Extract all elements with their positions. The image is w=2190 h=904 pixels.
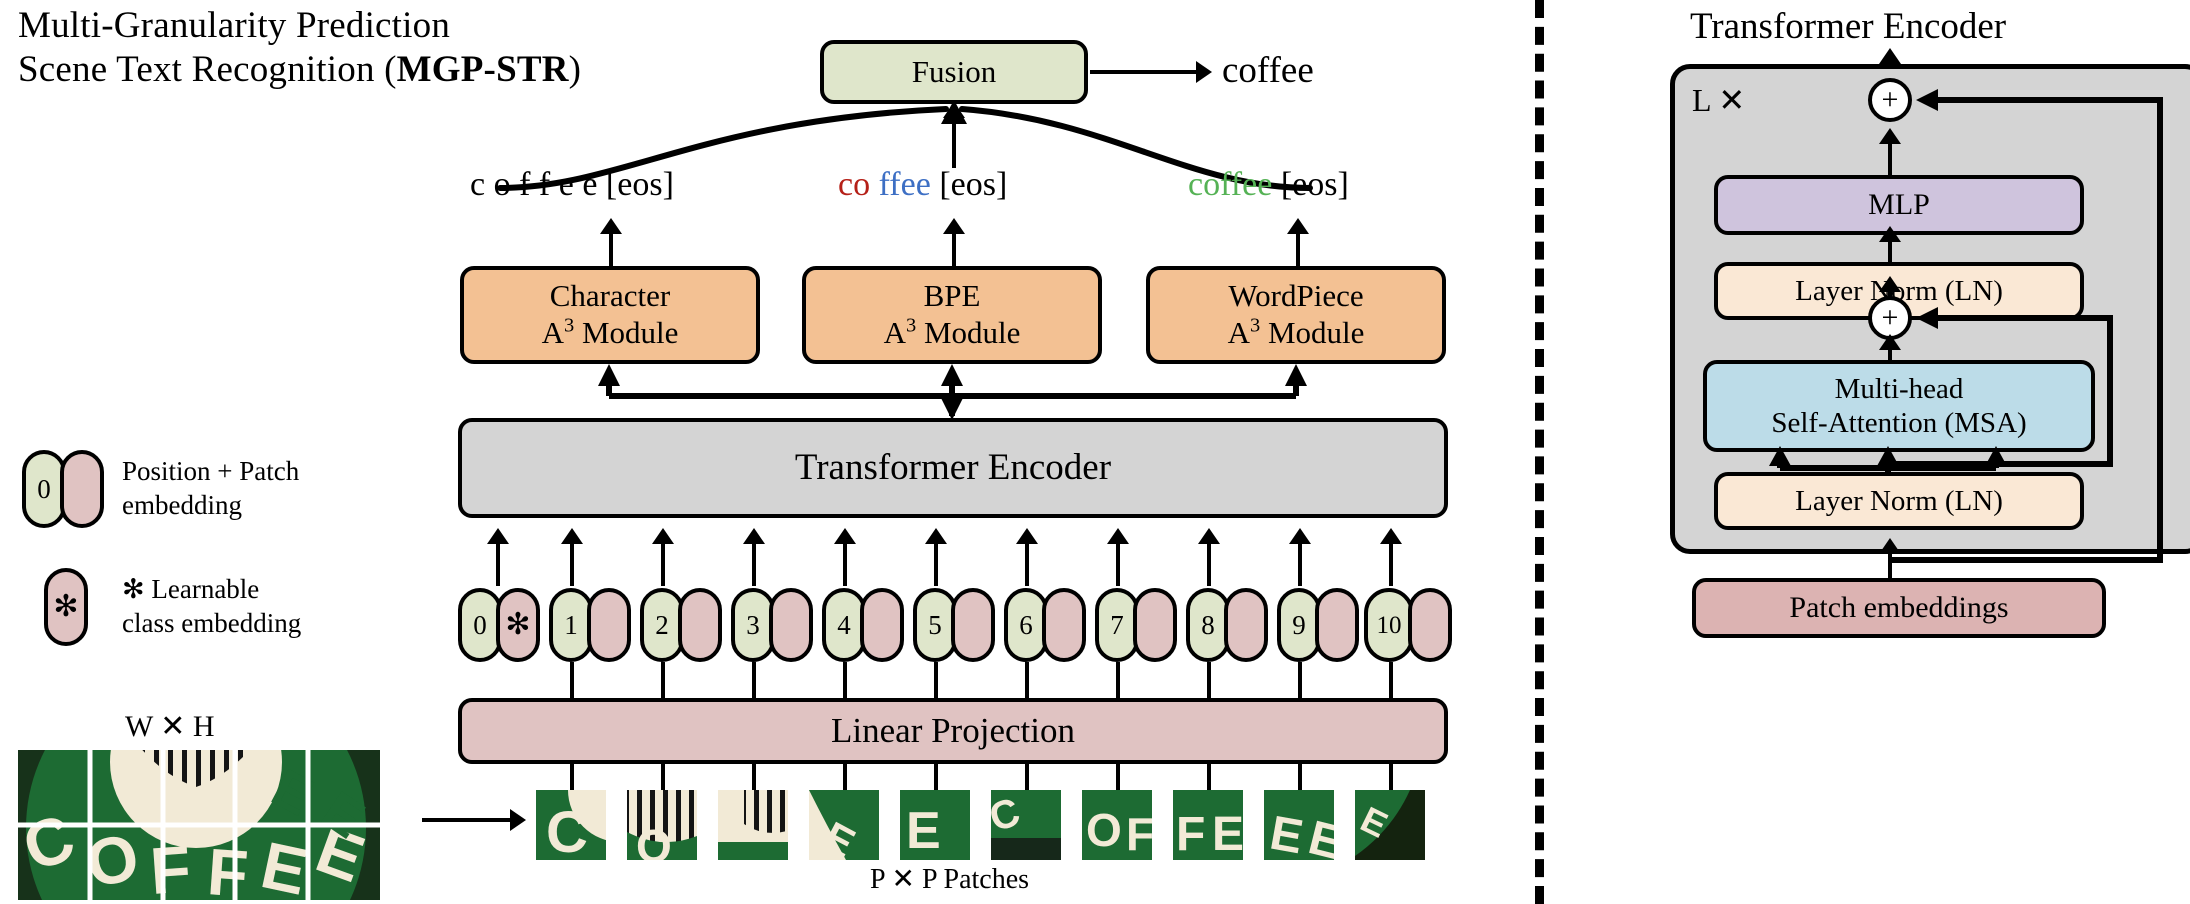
svg-text:E: E (1303, 811, 1347, 870)
mlp-to-add-arrowhead (1879, 128, 1901, 144)
svg-text:C: C (546, 800, 588, 865)
layer-norm-bottom-label: Layer Norm (LN) (1795, 484, 2003, 518)
character-a3-module-box[interactable]: Character A3 Module (460, 266, 760, 364)
prediction-bpe-seg-2: [eos] (939, 166, 1007, 203)
linear-projection-label: Linear Projection (831, 710, 1075, 751)
token-4-patch-capsule[interactable] (860, 588, 904, 662)
fusion-output-line (1090, 70, 1200, 74)
msa-box[interactable]: Multi-head Self-Attention (MSA) (1703, 360, 2095, 452)
svg-text:F: F (148, 831, 193, 904)
transformer-encoder-box[interactable]: Transformer Encoder (458, 418, 1448, 518)
token-3-index: 3 (746, 612, 760, 639)
title-suffix: ) (569, 49, 582, 90)
svg-text:O: O (636, 820, 672, 872)
token-9-index: 9 (1292, 612, 1306, 639)
svg-text:E: E (1212, 808, 1244, 861)
token-0-class-capsule[interactable]: ✻ (496, 588, 540, 662)
legend-class-line1: ✻ Learnable (122, 573, 259, 606)
right-panel-title: Transformer Encoder (1690, 8, 2006, 45)
wordpiece-a3-module-line1: WordPiece (1228, 278, 1363, 315)
legend-class-capsule: ✻ (44, 568, 88, 646)
token-0-star-icon: ✻ (505, 610, 530, 640)
legend-class-star-icon: ✻ (53, 592, 78, 622)
prediction-bpe-seg-0: co (838, 166, 879, 203)
title-prefix: Scene Text Recognition ( (18, 49, 397, 90)
token-5-index: 5 (928, 612, 942, 639)
msa-line2: Self-Attention (MSA) (1771, 406, 2026, 440)
fusion-output-arrowhead (1196, 61, 1212, 83)
bpe-a3-module-line1: BPE (924, 278, 981, 315)
msa-to-add-arrowhead (1879, 334, 1901, 350)
title-line-2: Scene Text Recognition (MGP-STR) (18, 48, 581, 92)
token-2-patch-capsule[interactable] (678, 588, 722, 662)
prediction-character-seg-0: c o f f e e (470, 166, 606, 203)
encoder-output-arrowhead (1879, 48, 1901, 64)
svg-text:E: E (1354, 798, 1394, 845)
title-acronym: MGP-STR (397, 49, 569, 90)
residual-add-bottom-symbol: + (1882, 303, 1899, 333)
token-8-index: 8 (1201, 612, 1215, 639)
prediction-wordpiece-seg-0: coffee (1188, 166, 1281, 203)
panel-divider (1535, 0, 1544, 904)
bpe-to-fusion-line (952, 112, 956, 168)
prediction-bpe-seg-1: ffee (879, 166, 940, 203)
bpe-module-out-arrowhead (943, 218, 965, 234)
token-10-index: 10 (1377, 613, 1402, 638)
wordpiece-a3-module-line2: A3 Module (1228, 315, 1365, 352)
patch-embeddings-to-ln-arrowhead (1879, 538, 1901, 554)
svg-text:C: C (984, 790, 1025, 841)
svg-text:F: F (1126, 808, 1154, 860)
legend-position-patch-line1: Position + Patch (122, 455, 299, 488)
character-module-out-line (609, 228, 613, 268)
bpe-a3-module-line2: A3 Module (884, 315, 1021, 352)
fusion-label: Fusion (912, 54, 996, 91)
svg-text:F: F (1176, 808, 1205, 861)
token-0-index: 0 (473, 612, 487, 639)
msa-line1: Multi-head (1835, 372, 1964, 406)
transformer-encoder-label: Transformer Encoder (795, 446, 1111, 490)
token-1-index: 1 (564, 612, 578, 639)
prediction-wordpiece-seg-1: [eos] (1281, 166, 1349, 203)
residual-add-top-symbol: + (1882, 85, 1899, 115)
wordpiece-module-out-line (1296, 228, 1300, 268)
bpe-module-out-line (952, 228, 956, 268)
svg-text:E: E (307, 812, 374, 897)
repeat-label: L ✕ (1692, 84, 1745, 116)
ln-top-to-mlp-arrowhead (1879, 226, 1901, 242)
legend-position-index: 0 (37, 476, 51, 503)
token-5-patch-capsule[interactable] (951, 588, 995, 662)
image-to-patches-arrowhead (510, 809, 526, 831)
svg-text:O: O (80, 819, 146, 902)
bpe-to-fusion-arrowhead (943, 102, 965, 118)
token-9-patch-capsule[interactable] (1315, 588, 1359, 662)
patch-embeddings-box[interactable]: Patch embeddings (1692, 578, 2106, 638)
token-6-index: 6 (1019, 612, 1033, 639)
svg-text:O: O (1086, 804, 1122, 856)
patch-embeddings-label: Patch embeddings (1789, 590, 2008, 625)
token-10-patch-capsule[interactable] (1408, 588, 1452, 662)
svg-text:E: E (816, 812, 863, 867)
token-7-patch-capsule[interactable] (1133, 588, 1177, 662)
mlp-label: MLP (1868, 187, 1930, 222)
legend-position-patch-line2: embedding (122, 489, 242, 522)
token-3-patch-capsule[interactable] (769, 588, 813, 662)
figure-root: Multi-Granularity Prediction Scene Text … (0, 0, 2190, 904)
wordpiece-module-out-arrowhead (1287, 218, 1309, 234)
linear-projection-box[interactable]: Linear Projection (458, 698, 1448, 764)
bpe-a3-module-box[interactable]: BPE A3 Module (802, 266, 1102, 364)
prediction-bpe: co ffee [eos] (838, 168, 1007, 202)
svg-text:C: C (13, 799, 83, 885)
token-8-patch-capsule[interactable] (1224, 588, 1268, 662)
fusion-output-text: coffee (1222, 52, 1314, 89)
prediction-character-seg-1: [eos] (606, 166, 674, 203)
fusion-box[interactable]: Fusion (820, 40, 1088, 104)
prediction-wordpiece: coffee [eos] (1188, 168, 1349, 202)
patches-label: P ✕ P Patches (870, 866, 1029, 894)
token-10-position-capsule[interactable]: 10 (1364, 588, 1414, 662)
legend-class-line2: class embedding (122, 607, 301, 640)
character-module-out-arrowhead (600, 218, 622, 234)
token-4-index: 4 (837, 612, 851, 639)
token-6-patch-capsule[interactable] (1042, 588, 1086, 662)
svg-text:E: E (262, 758, 322, 828)
residual-add-top: + (1868, 78, 1912, 122)
layer-norm-bottom-box[interactable]: Layer Norm (LN) (1714, 472, 2084, 530)
wordpiece-a3-module-box[interactable]: WordPiece A3 Module (1146, 266, 1446, 364)
svg-text:E: E (255, 827, 313, 904)
character-a3-module-line1: Character (550, 278, 670, 315)
add-bottom-to-ln-top-arrowhead (1879, 276, 1901, 292)
svg-text:E: E (311, 780, 374, 850)
svg-text:E: E (906, 802, 941, 860)
legend-patch-capsule (60, 450, 104, 528)
image-to-patches-line (422, 818, 514, 822)
svg-text:F: F (205, 834, 250, 904)
character-a3-module-line2: A3 Module (542, 315, 679, 352)
title-line-1: Multi-Granularity Prediction (18, 4, 450, 48)
input-dimension-label: W ✕ H (125, 712, 215, 742)
token-2-index: 2 (655, 612, 669, 639)
svg-text:E: E (1266, 807, 1307, 865)
token-7-index: 7 (1110, 612, 1124, 639)
token-1-patch-capsule[interactable] (587, 588, 631, 662)
prediction-character: c o f f e e [eos] (470, 168, 674, 202)
